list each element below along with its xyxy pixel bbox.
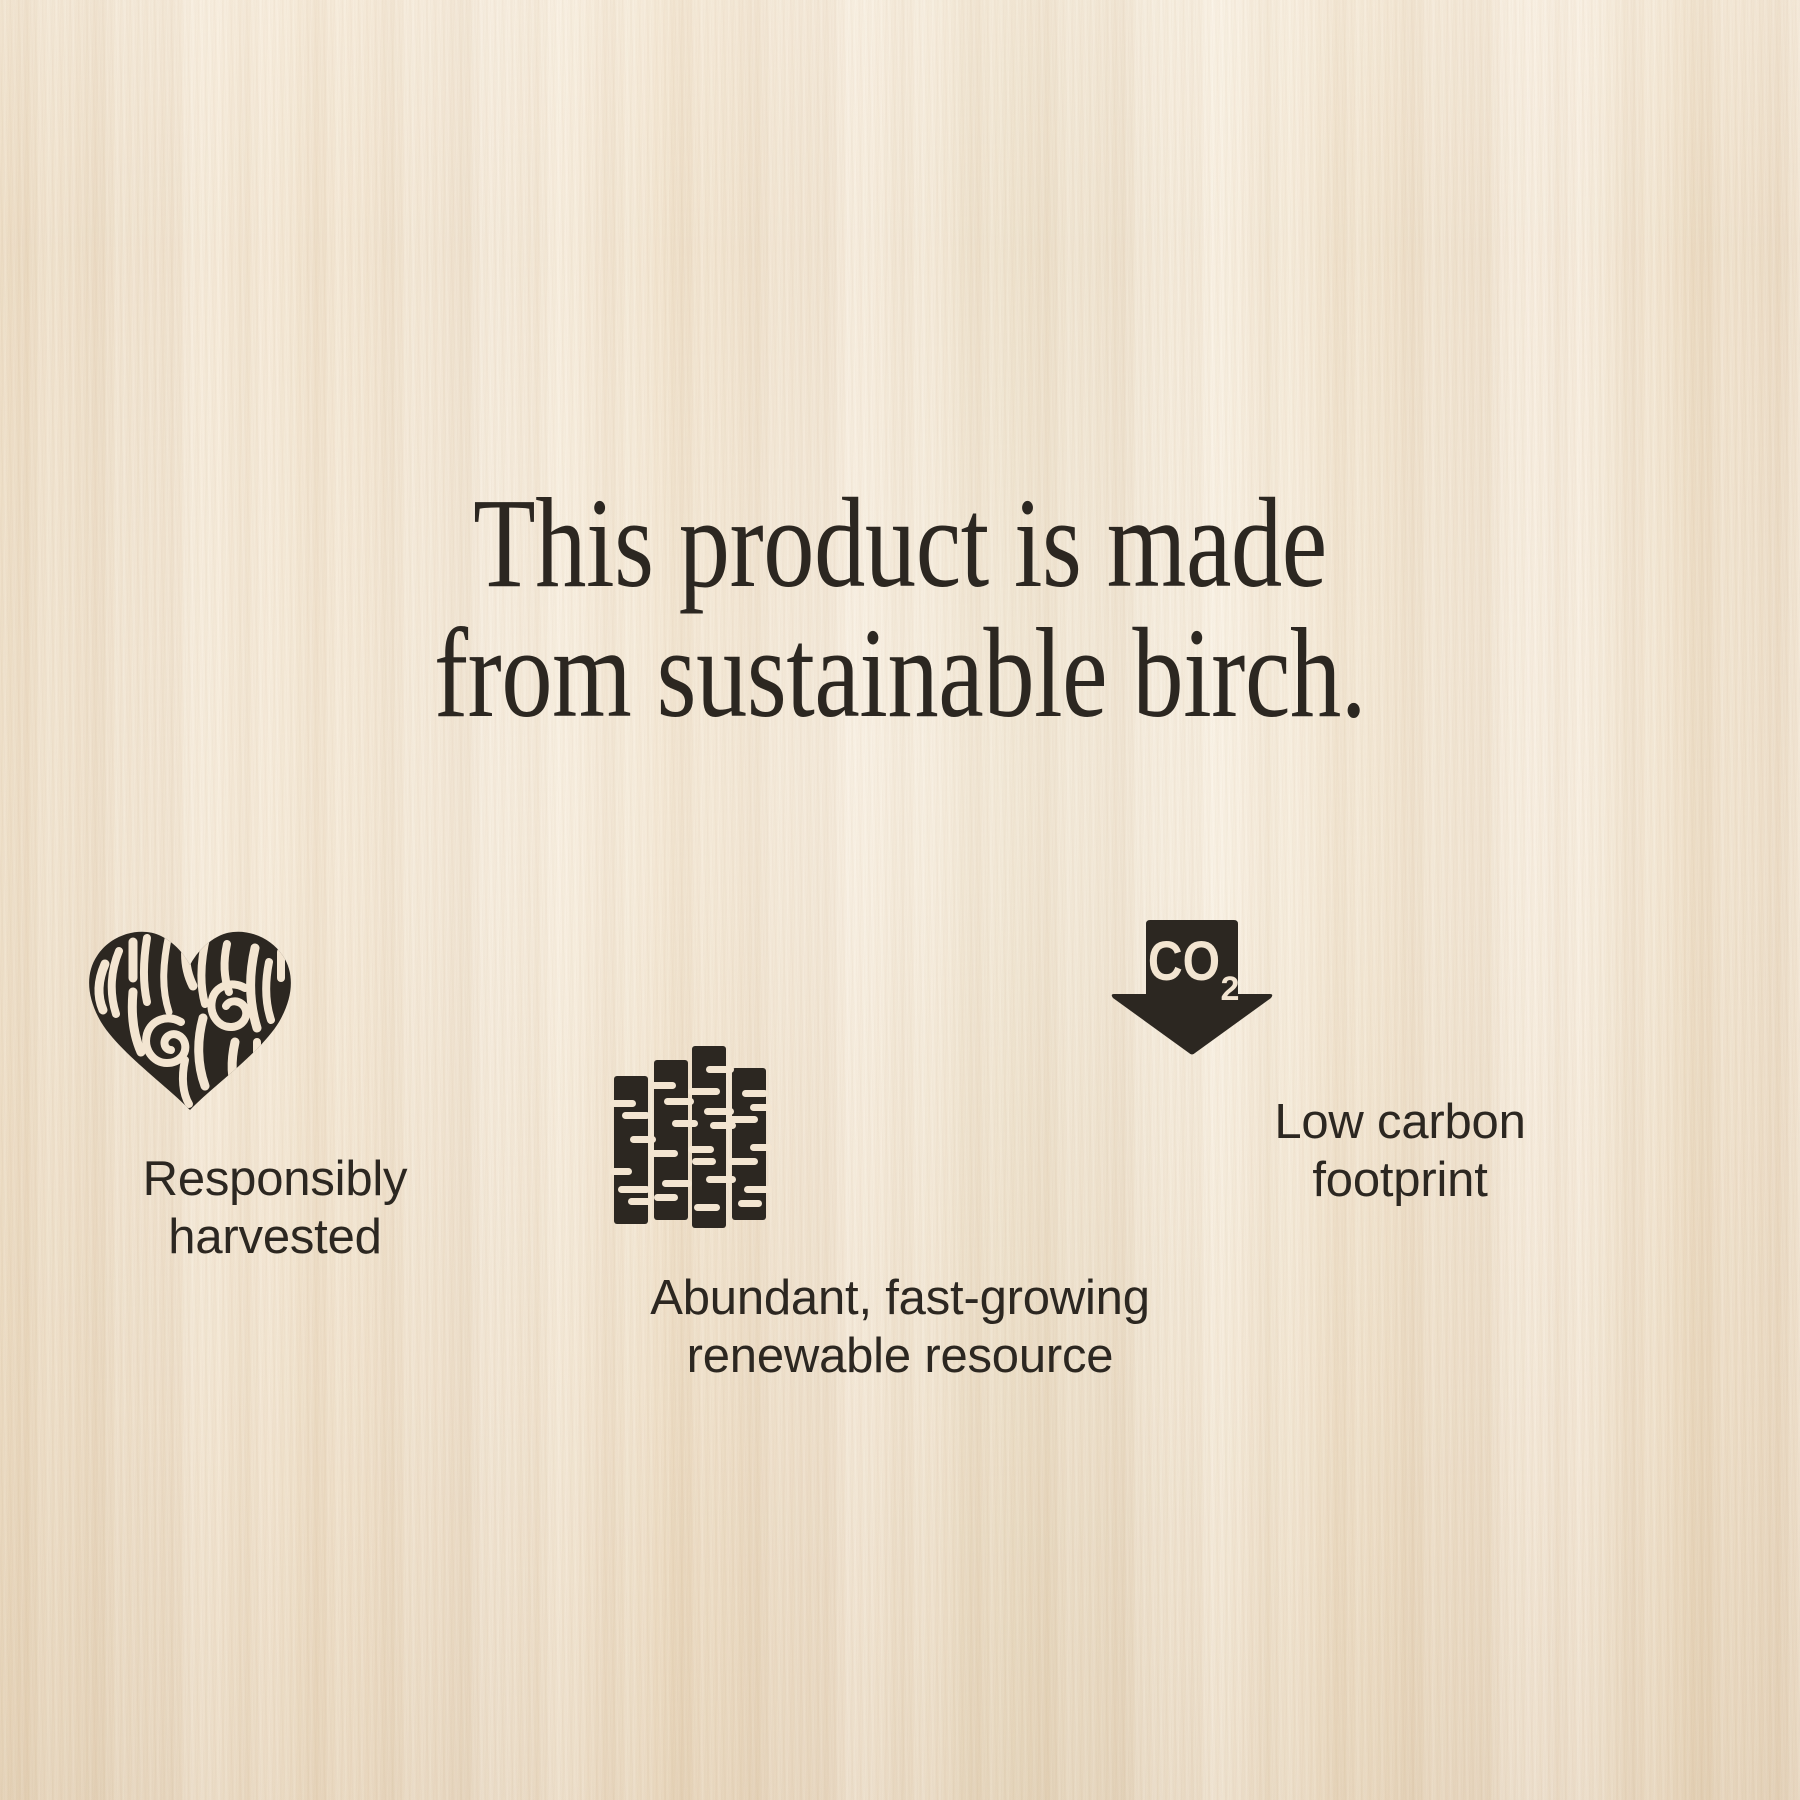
badge-label-line-2: footprint <box>1110 1152 1690 1210</box>
badge-label-line-2: harvested <box>85 1209 465 1267</box>
co2-down-arrow-icon: CO 2 <box>1110 918 1690 1056</box>
badge-low-carbon-footprint: CO 2 Low carbon footprint <box>1110 918 1690 1210</box>
badge-label-line-1: Responsibly <box>85 1151 465 1209</box>
badge-label-responsibly-harvested: Responsibly harvested <box>85 1151 465 1267</box>
page-title: This product is made from sustainable bi… <box>180 478 1620 739</box>
poster-content: This product is made from sustainable bi… <box>0 0 1800 1800</box>
badge-label-low-carbon-footprint: Low carbon footprint <box>1110 1094 1690 1210</box>
badge-responsibly-harvested: Responsibly harvested <box>85 918 465 1267</box>
poster-canvas: This product is made from sustainable bi… <box>0 0 1800 1800</box>
co2-icon-subscript: 2 <box>1221 970 1240 1008</box>
badge-label-line-1: Abundant, fast-growing <box>610 1270 1190 1328</box>
badge-label-line-2: renewable resource <box>610 1328 1190 1386</box>
badge-label-renewable-resource: Abundant, fast-growing renewable resourc… <box>610 1270 1190 1386</box>
badge-renewable-resource: Abundant, fast-growing renewable resourc… <box>610 1046 1190 1386</box>
co2-icon-text: CO <box>1148 931 1220 993</box>
badge-label-line-1: Low carbon <box>1110 1094 1690 1152</box>
headline-line-2: from sustainable birch. <box>180 608 1620 739</box>
headline-line-1: This product is made <box>180 478 1620 609</box>
wood-grain-heart-icon <box>85 918 465 1113</box>
birch-trunks-icon <box>610 1046 1190 1228</box>
